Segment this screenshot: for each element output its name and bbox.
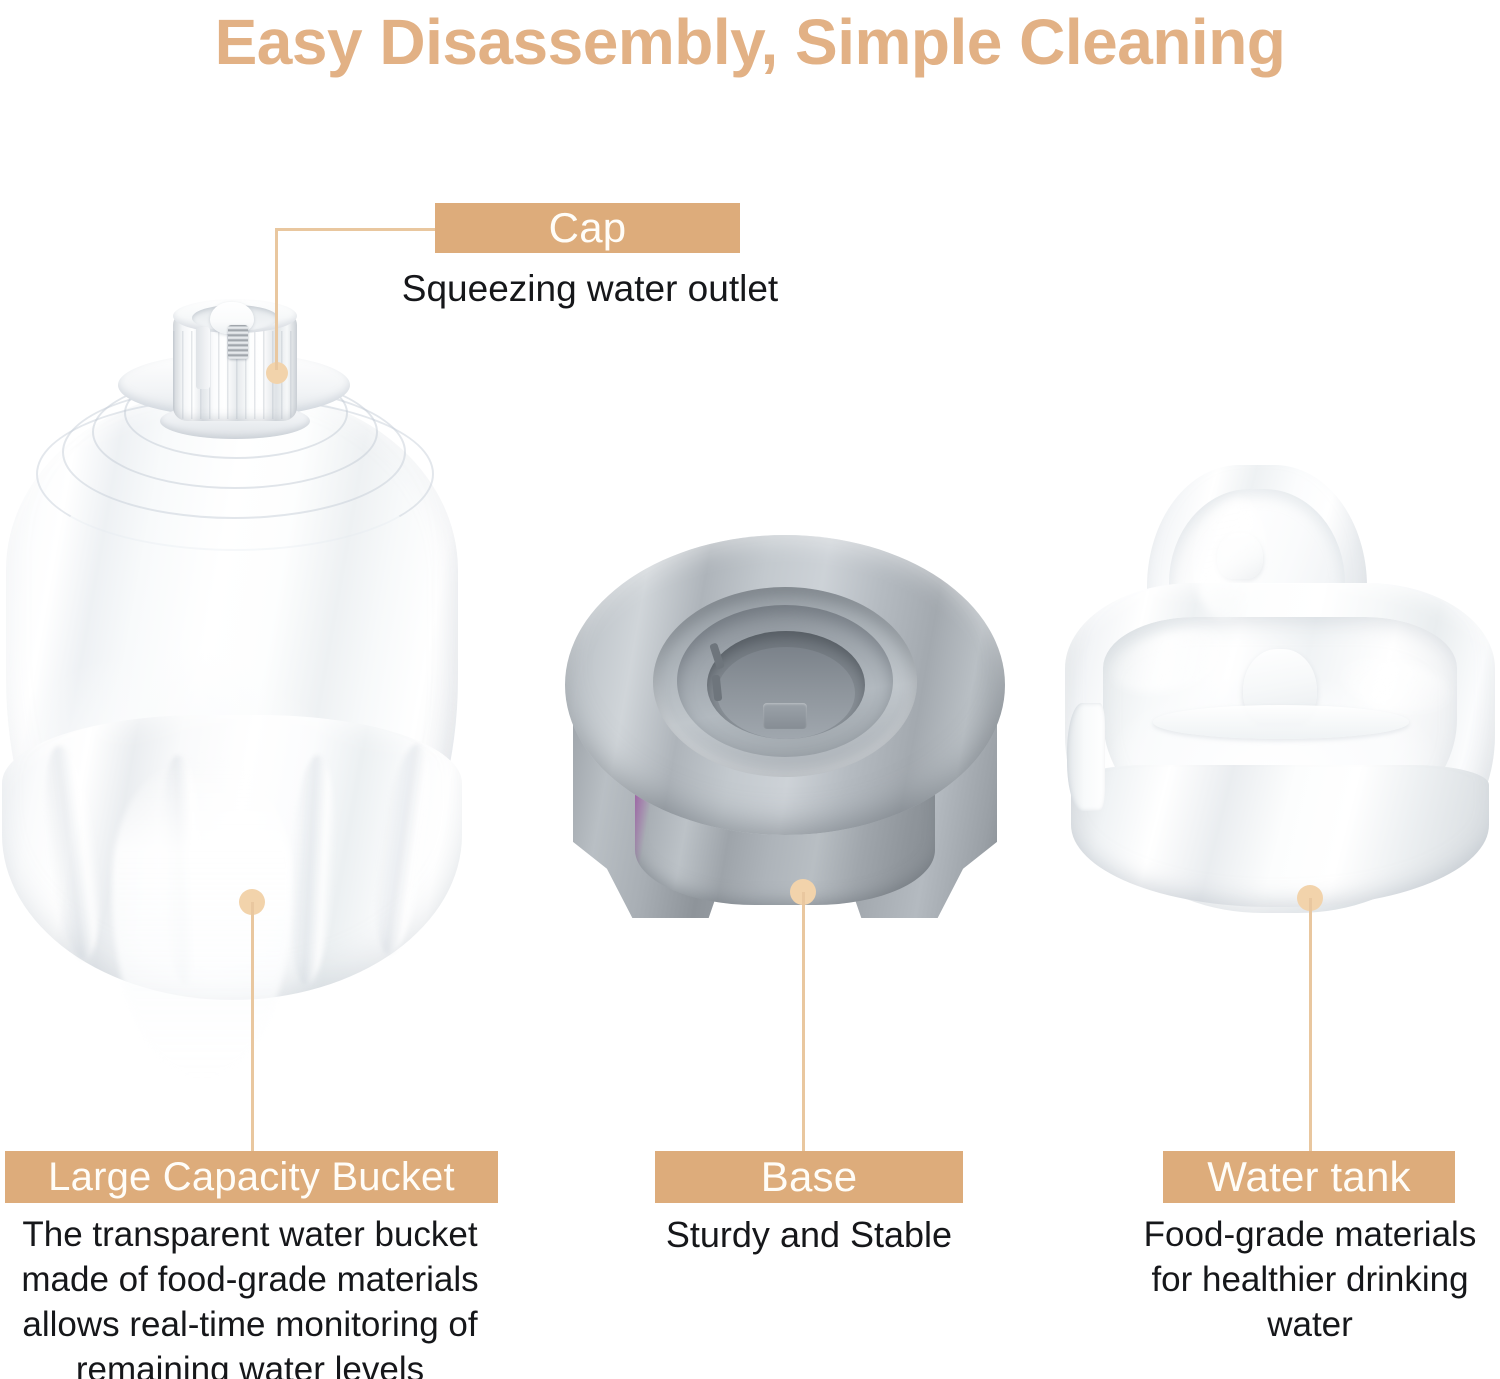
- water-bucket-image: [0, 285, 470, 1010]
- tank-front-rim: [1071, 765, 1489, 907]
- page-title: Easy Disassembly, Simple Cleaning: [0, 2, 1500, 82]
- leader-line-base: [802, 892, 805, 1152]
- cap-spring: [228, 325, 248, 359]
- callout-description-cap: Squeezing water outlet: [380, 266, 800, 312]
- base-locking-tab: [763, 703, 807, 729]
- leader-line-cap-vertical: [275, 228, 278, 370]
- callout-badge-cap: Cap: [435, 203, 740, 253]
- callout-badge-base: Base: [655, 1151, 963, 1203]
- callout-description-water-tank: Food-grade materials for healthier drink…: [1135, 1212, 1485, 1347]
- bucket-inner-highlight: [112, 755, 292, 1075]
- callout-badge-bucket: Large Capacity Bucket: [5, 1151, 498, 1203]
- leader-line-bucket: [251, 902, 254, 1152]
- callout-badge-water-tank: Water tank: [1163, 1151, 1455, 1203]
- tank-inner-ridge: [1153, 705, 1409, 739]
- base-image: [565, 535, 1005, 955]
- leader-line-water-tank: [1309, 898, 1312, 1152]
- product-infographic: Easy Disassembly, Simple Cleaning: [0, 0, 1500, 1379]
- callout-description-bucket: The transparent water bucket made of foo…: [0, 1212, 500, 1379]
- water-tank-image: [1065, 465, 1495, 920]
- tank-side-handle: [1067, 703, 1105, 811]
- callout-description-base: Sturdy and Stable: [655, 1212, 963, 1258]
- cap-stem-slot: [196, 327, 210, 389]
- leader-line-cap-horizontal: [275, 228, 437, 231]
